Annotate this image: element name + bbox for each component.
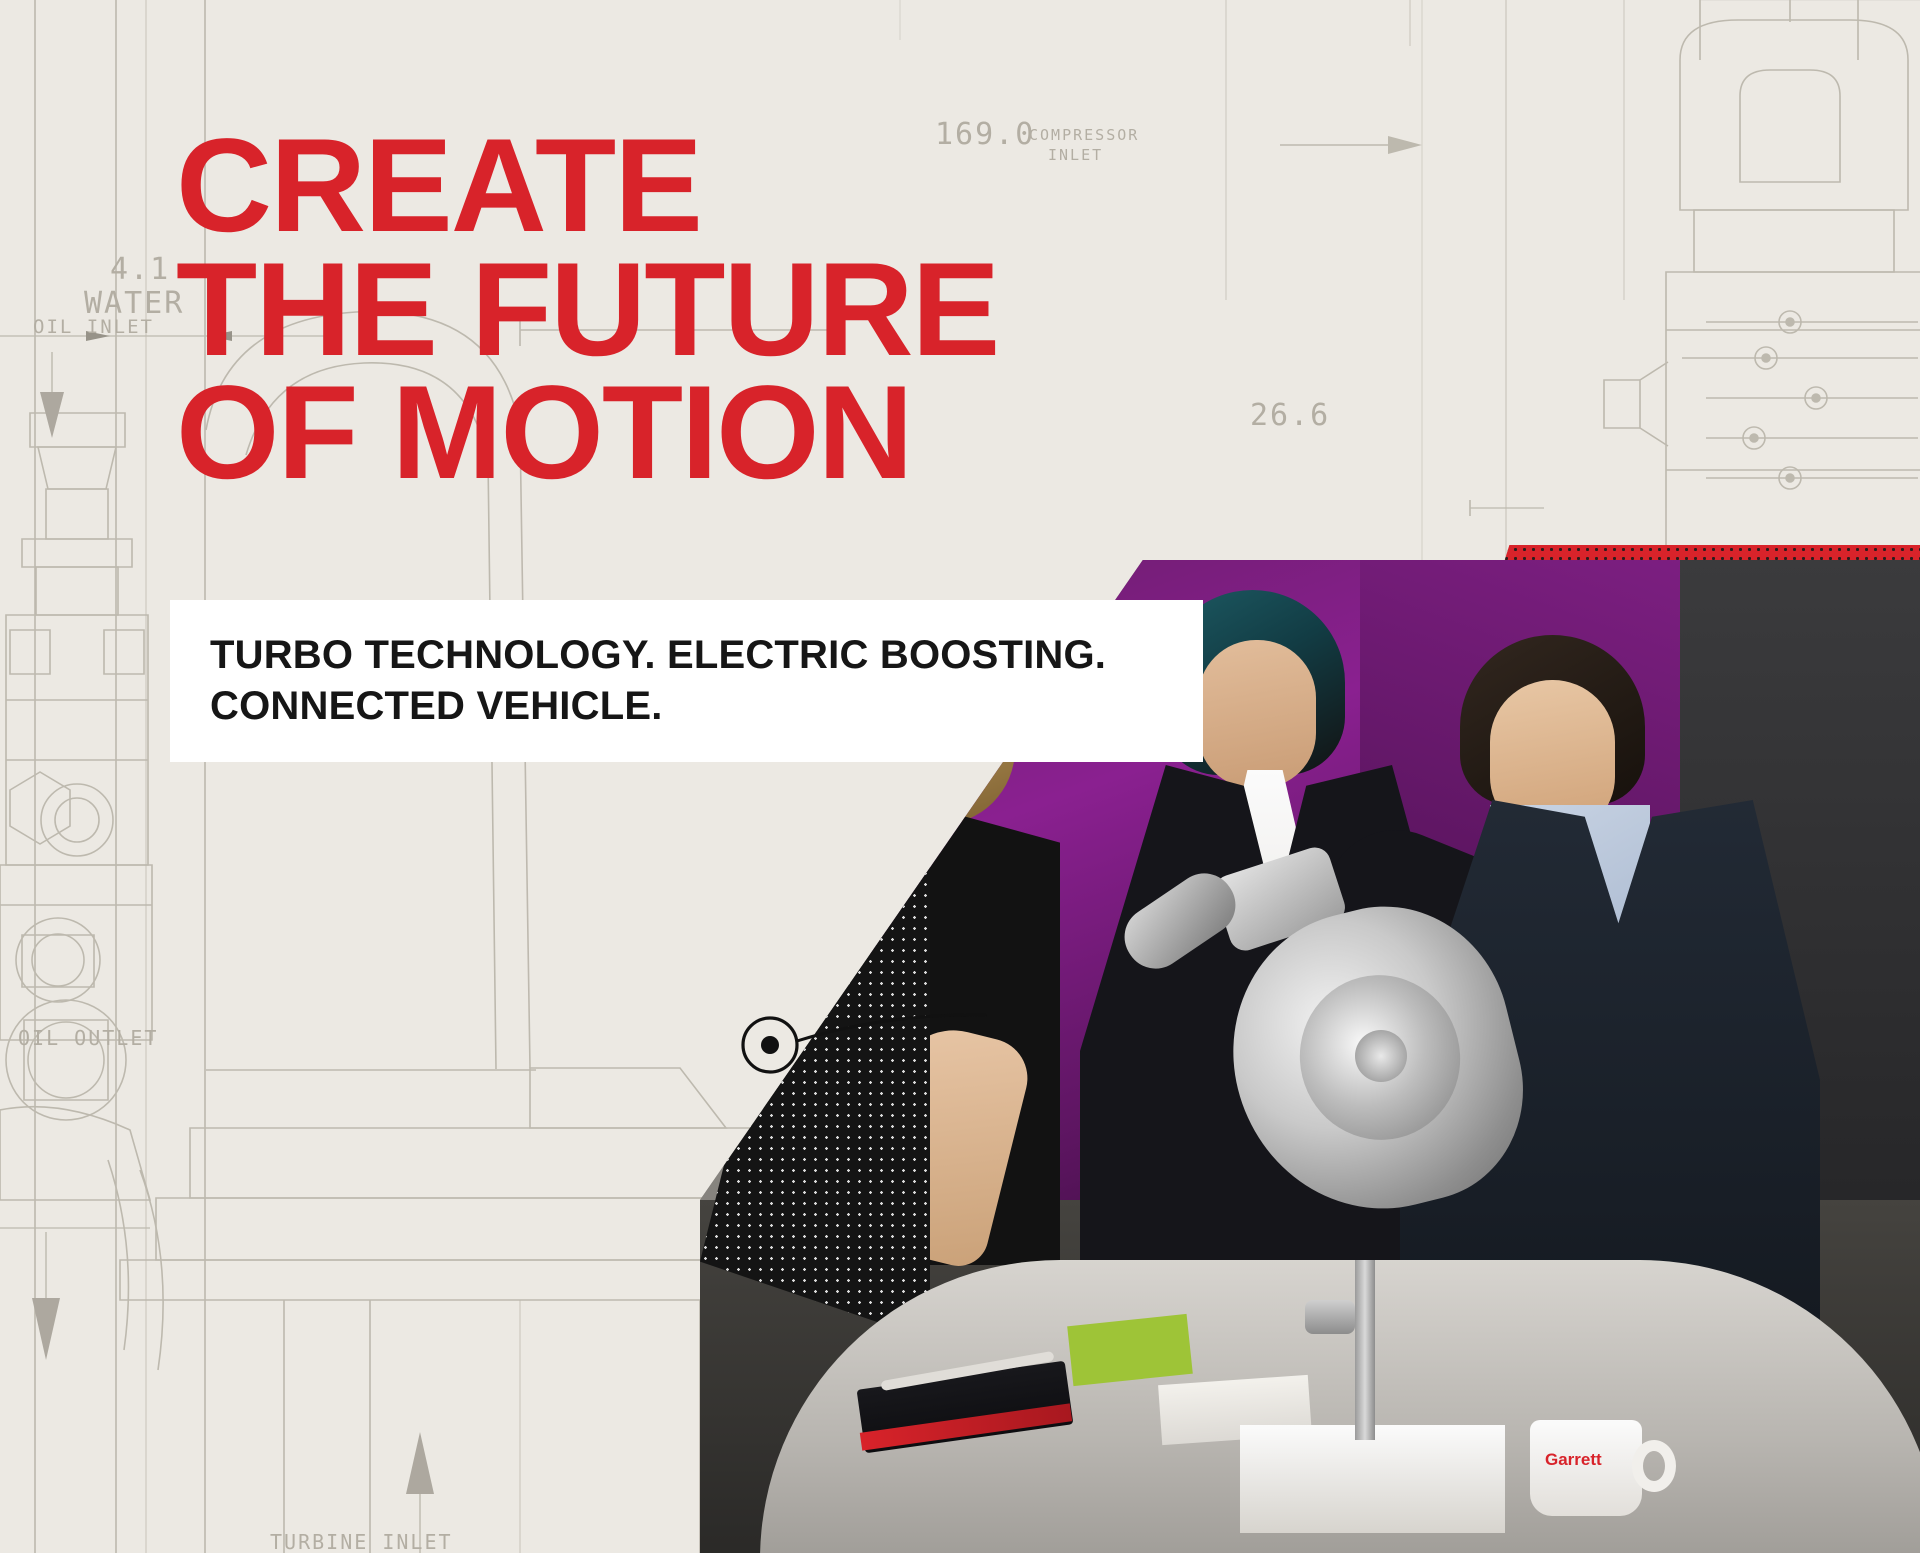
photo-green-notepad [1067, 1314, 1193, 1386]
blueprint-label-water-dimension: 4.1 [110, 252, 170, 287]
headline-line-1: CREATE [176, 125, 998, 249]
page-title: CREATE THE FUTURE OF MOTION [176, 125, 998, 496]
turbo-mount-stem [1355, 1260, 1375, 1440]
headline-line-2: THE FUTURE [176, 249, 998, 373]
photo-mug-handle [1632, 1440, 1676, 1492]
headline-line-3: OF MOTION [176, 372, 998, 496]
blueprint-label-right-dimension: 26.6 [1250, 398, 1330, 433]
photo-wristwatch [1305, 1300, 1355, 1334]
turbo-hub [1355, 1030, 1407, 1082]
callout-dot-icon [740, 1005, 1040, 1085]
subtitle-line-2: CONNECTED VEHICLE. [210, 681, 1169, 732]
blueprint-label-oil-outlet: OIL OUTLET [18, 1026, 158, 1050]
person-middle-face [1198, 640, 1316, 788]
blueprint-label-compressor-inlet-line1: COMPRESSOR [1029, 126, 1139, 144]
subtitle-line-1: TURBO TECHNOLOGY. ELECTRIC BOOSTING. [210, 630, 1169, 681]
blueprint-label-water: WATER [84, 286, 184, 321]
hero-banner: OIL INLET 4.1 WATER 169.0 COMPRESSOR INL… [0, 0, 1920, 1553]
photo-mug-logo: Garrett [1545, 1450, 1633, 1470]
blueprint-label-turbine-inlet: TURBINE INLET [270, 1530, 453, 1553]
blueprint-label-compressor-inlet-line2: INLET [1048, 146, 1103, 164]
subtitle-banner: TURBO TECHNOLOGY. ELECTRIC BOOSTING. CON… [170, 600, 1203, 762]
turbo-display-base [1240, 1425, 1505, 1533]
